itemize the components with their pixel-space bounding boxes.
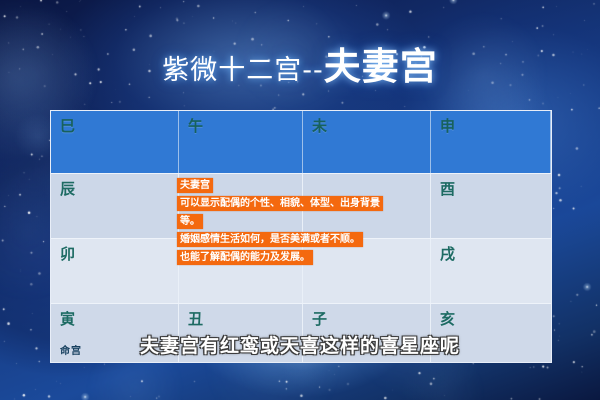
branch-label: 亥: [440, 310, 456, 328]
palace-cell-you[interactable]: 酉: [431, 174, 551, 238]
branch-label: 子: [312, 310, 328, 328]
annotation-line: 可以显示配偶的个性、相貌、体型、出身背景: [177, 196, 383, 211]
video-subtitle: 夫妻宫有红鸾或天喜这样的喜星座呢: [0, 331, 600, 358]
branch-label: 丑: [188, 310, 204, 328]
video-frame: 紫微十二宫--夫妻宫 巳 午 未 申 辰: [0, 0, 600, 400]
palace-cell-xu[interactable]: 戌: [431, 239, 551, 303]
palace-cell-shen[interactable]: 申: [431, 111, 551, 173]
spouse-palace-annotation: 夫妻宫 可以显示配偶的个性、相貌、体型、出身背景 等。 婚姻感情生活如何，是否美…: [177, 178, 427, 268]
branch-label: 未: [312, 117, 328, 135]
chart-row: 巳 午 未 申: [51, 111, 551, 173]
palace-cell-wu[interactable]: 午: [179, 111, 303, 173]
palace-cell-mao[interactable]: 卯: [51, 239, 179, 303]
branch-label: 戌: [440, 245, 456, 263]
page-title-prefix: 紫微十二宫--: [162, 55, 324, 86]
annotation-line: 也能了解配偶的能力及发展。: [177, 250, 313, 265]
palace-cell-si[interactable]: 巳: [51, 111, 179, 173]
annotation-line: 夫妻宫: [177, 178, 213, 193]
branch-label: 午: [188, 117, 204, 135]
branch-label: 申: [440, 117, 456, 135]
annotation-line: 等。: [177, 214, 203, 229]
branch-label: 巳: [60, 117, 76, 135]
annotation-line: 婚姻感情生活如何，是否美满或者不顺。: [177, 232, 363, 247]
branch-label: 酉: [440, 180, 456, 198]
branch-label: 寅: [60, 310, 76, 328]
page-title-emphasis: 夫妻宫: [324, 45, 438, 88]
palace-cell-chen[interactable]: 辰: [51, 174, 179, 238]
page-title: 紫微十二宫--夫妻宫: [0, 36, 600, 90]
branch-label: 辰: [60, 180, 76, 198]
palace-cell-wei[interactable]: 未: [303, 111, 431, 173]
branch-label: 卯: [60, 245, 76, 263]
